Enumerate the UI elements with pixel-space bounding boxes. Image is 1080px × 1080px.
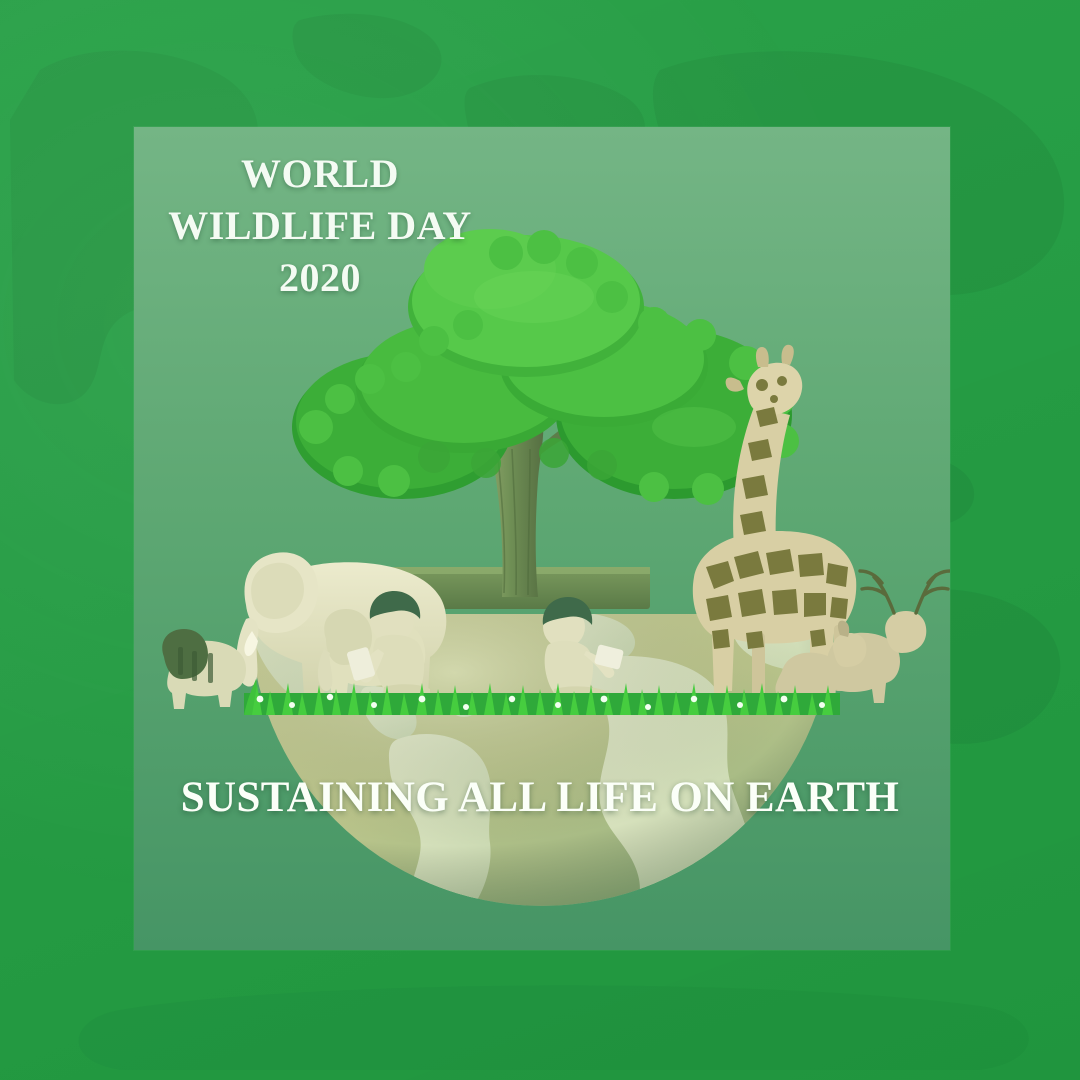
brand-footer-bar: GADEF Preserving Humanity bbox=[0, 950, 1080, 1080]
poster-tagline: SUSTAINING ALL LIFE ON EARTH bbox=[170, 767, 910, 829]
headline-line-2: WILDLIFE DAY bbox=[150, 200, 490, 252]
headline-line-3: 2020 bbox=[150, 252, 490, 304]
headline-line-1: WORLD bbox=[150, 148, 490, 200]
poster-headline: WORLD WILDLIFE DAY 2020 bbox=[150, 148, 490, 304]
